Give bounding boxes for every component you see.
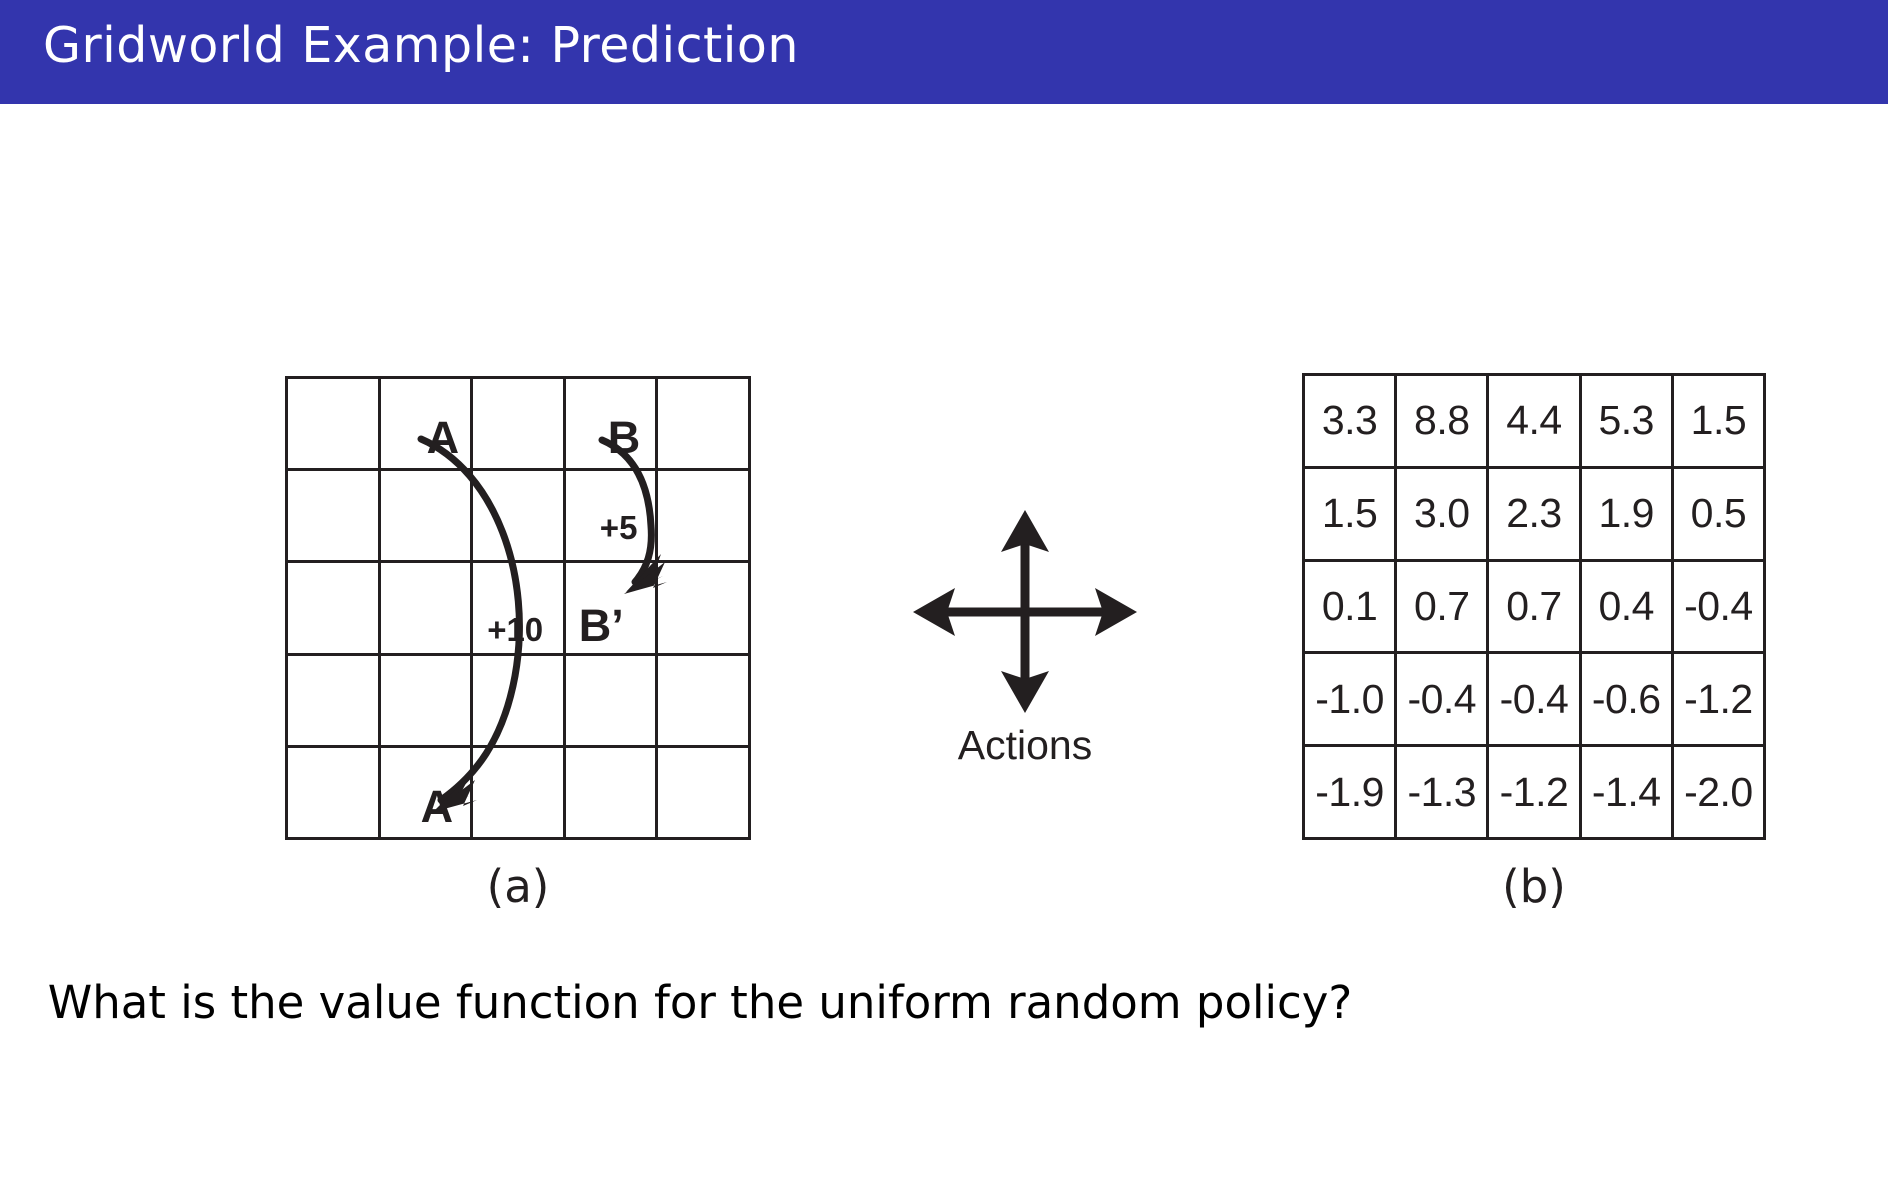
grid-a-cell-r0c2 [473, 379, 566, 471]
grid-b-cell-r2c4: -0.4 [1674, 562, 1766, 655]
page-title: Gridworld Example: Prediction [43, 17, 799, 74]
grid-a-cell-r2c0 [288, 563, 381, 655]
grid-a-cell-r2c2: +10 [473, 563, 566, 655]
grid-b-cell-r2c1: 0.7 [1397, 562, 1489, 655]
value-function-figure-b: 3.3 8.8 4.4 5.3 1.5 1.5 3.0 2.3 1.9 0.5 … [1302, 373, 1766, 840]
slide-title-bar: Gridworld Example: Prediction [0, 0, 1888, 104]
grid-a-cell-r2c4 [658, 563, 751, 655]
state-label-b: B [608, 415, 641, 460]
grid-a-cell-r4c4 [658, 748, 751, 840]
gridworld-grid-a: A B +5 +10 B’ [285, 376, 751, 840]
grid-b-cell-r1c0: 1.5 [1305, 469, 1397, 562]
grid-b-cell-r0c4: 1.5 [1674, 376, 1766, 469]
figure-b-caption: (b) [1302, 860, 1766, 913]
grid-a-cell-r1c4 [658, 471, 751, 563]
grid-a-cell-r0c4 [658, 379, 751, 471]
grid-a-cell-r3c2 [473, 656, 566, 748]
grid-b-cell-r2c2: 0.7 [1489, 562, 1581, 655]
grid-a-cell-r2c1 [381, 563, 474, 655]
state-label-b-prime: B’ [579, 603, 624, 648]
grid-b-cell-r2c0: 0.1 [1305, 562, 1397, 655]
question-text: What is the value function for the unifo… [0, 976, 1400, 1029]
grid-b-cell-r1c3: 1.9 [1582, 469, 1674, 562]
grid-a-cell-r2c3: B’ [566, 563, 659, 655]
grid-a-cell-r0c1: A [381, 379, 474, 471]
grid-b-cell-r1c2: 2.3 [1489, 469, 1581, 562]
grid-b-cell-r4c3: -1.4 [1582, 747, 1674, 840]
gridworld-figure-a: A B +5 +10 B’ [285, 376, 751, 840]
grid-a-cell-r3c0 [288, 656, 381, 748]
grid-b-cell-r4c2: -1.2 [1489, 747, 1581, 840]
grid-b-cell-r4c1: -1.3 [1397, 747, 1489, 840]
reward-label-plus5: +5 [600, 511, 638, 544]
grid-a-cell-r1c0 [288, 471, 381, 563]
grid-b-cell-r3c3: -0.6 [1582, 654, 1674, 747]
grid-a-cell-r4c2 [473, 748, 566, 840]
grid-b-cell-r1c1: 3.0 [1397, 469, 1489, 562]
grid-b-cell-r3c4: -1.2 [1674, 654, 1766, 747]
grid-b-cell-r4c4: -2.0 [1674, 747, 1766, 840]
grid-b-cell-r0c2: 4.4 [1489, 376, 1581, 469]
grid-b-cell-r1c4: 0.5 [1674, 469, 1766, 562]
grid-b-cell-r0c3: 5.3 [1582, 376, 1674, 469]
grid-a-cell-r1c3: +5 [566, 471, 659, 563]
grid-b-cell-r0c0: 3.3 [1305, 376, 1397, 469]
figure-a-caption: (a) [285, 860, 751, 913]
grid-a-cell-r1c2 [473, 471, 566, 563]
grid-b-cell-r3c1: -0.4 [1397, 654, 1489, 747]
slide-content: A B +5 +10 B’ [0, 104, 1888, 1186]
grid-a-cell-r4c3 [566, 748, 659, 840]
grid-b-cell-r2c3: 0.4 [1582, 562, 1674, 655]
state-label-a: A [427, 415, 460, 460]
grid-a-cell-r3c3 [566, 656, 659, 748]
grid-b-cell-r3c2: -0.4 [1489, 654, 1581, 747]
grid-a-cell-r0c0 [288, 379, 381, 471]
actions-caption: Actions [905, 722, 1145, 769]
grid-b-cell-r0c1: 8.8 [1397, 376, 1489, 469]
value-function-grid-b: 3.3 8.8 4.4 5.3 1.5 1.5 3.0 2.3 1.9 0.5 … [1302, 373, 1766, 840]
grid-a-cell-r3c4 [658, 656, 751, 748]
grid-b-cell-r4c0: -1.9 [1305, 747, 1397, 840]
grid-a-cell-r4c0 [288, 748, 381, 840]
grid-a-cell-r0c3: B [566, 379, 659, 471]
grid-b-cell-r3c0: -1.0 [1305, 654, 1397, 747]
reward-label-plus10: +10 [487, 613, 543, 646]
grid-a-cell-r1c1 [381, 471, 474, 563]
grid-a-cell-r4c1: A’ [381, 748, 474, 840]
actions-figure: Actions [905, 504, 1145, 814]
grid-a-cell-r3c1 [381, 656, 474, 748]
actions-cross-icon [905, 504, 1145, 719]
state-label-a-prime: A’ [421, 784, 464, 829]
